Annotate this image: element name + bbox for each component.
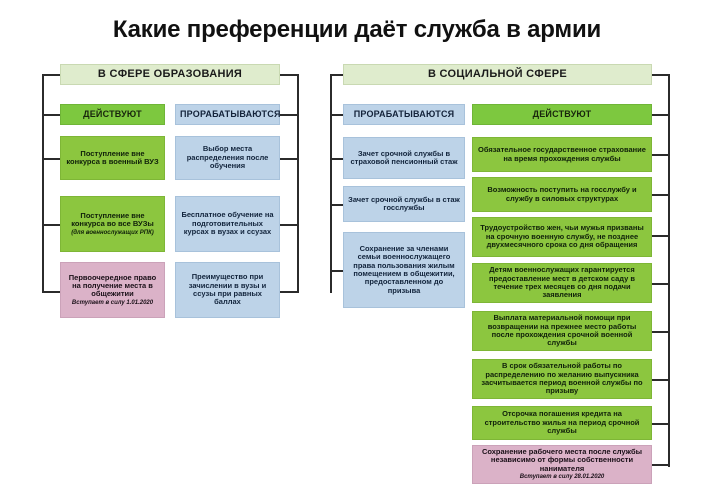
page-title: Какие преференции даёт служба в армии: [0, 16, 714, 44]
soc-right-bracket-vline: [668, 74, 670, 467]
edu-left-stub-item-2: [42, 224, 60, 226]
subheader-soc-active: ДЕЙСТВУЮТ: [472, 104, 652, 125]
item-soc-pending-3: Сохранение за членами семьи военнослужащ…: [343, 232, 465, 308]
soc-left-stub-item-2: [330, 204, 343, 206]
soc-right-stub-item-6: [652, 379, 669, 381]
item-edu-active-1: Поступление вне конкурса в военный ВУЗ: [60, 136, 165, 180]
item-edu-active-2: Поступление вне конкурса во все ВУЗы (дл…: [60, 196, 165, 252]
infographic-canvas: Какие преференции даёт служба в армии В …: [0, 0, 714, 504]
soc-right-stub-item-3: [652, 235, 669, 237]
section-header-social: В СОЦИАЛЬНОЙ СФЕРЕ: [343, 64, 652, 85]
item-soc-active-6: В срок обязательной работы по распределе…: [472, 359, 652, 399]
item-soc-active-2: Возможность поступить на госслужбу и слу…: [472, 177, 652, 212]
edu-left-bracket-vline: [42, 74, 44, 293]
soc-right-stub-header: [652, 74, 669, 76]
soc-right-stub-sub: [652, 114, 669, 116]
item-edu-active-3: Первоочередное право на получение места …: [60, 262, 165, 318]
soc-right-stub-item-5: [652, 331, 669, 333]
subheader-soc-pending: ПРОРАБАТЫВАЮТСЯ: [343, 104, 465, 125]
subheader-edu-active: ДЕЙСТВУЮТ: [60, 104, 165, 125]
soc-right-stub-item-2: [652, 194, 669, 196]
soc-left-stub-header: [330, 74, 343, 76]
edu-left-stub-item-3: [42, 291, 60, 293]
soc-left-stub-item-3: [330, 270, 343, 272]
item-edu-pending-2: Бесплатное обучение на подготовительных …: [175, 196, 280, 252]
item-soc-pending-1: Зачет срочной службы в страховой пенсион…: [343, 137, 465, 179]
soc-right-stub-item-8: [652, 464, 669, 466]
item-soc-active-4: Детям военнослужащих гарантируется предо…: [472, 263, 652, 303]
subheader-edu-pending: ПРОРАБАТЫВАЮТСЯ: [175, 104, 280, 125]
item-soc-active-5: Выплата материальной помощи при возвраще…: [472, 311, 652, 351]
soc-left-stub-item-1: [330, 158, 343, 160]
item-soc-active-8: Сохранение рабочего места после службы н…: [472, 445, 652, 484]
edu-right-stub-item-3: [280, 291, 298, 293]
item-edu-pending-1: Выбор места распределения после обучения: [175, 136, 280, 180]
edu-right-stub-sub: [280, 114, 298, 116]
soc-right-stub-item-1: [652, 154, 669, 156]
edu-right-bracket-vline: [297, 74, 299, 293]
soc-right-stub-item-7: [652, 423, 669, 425]
item-soc-active-3: Трудоустройство жен, чьи мужья призваны …: [472, 217, 652, 257]
item-soc-active-7: Отсрочка погашения кредита на строительс…: [472, 406, 652, 440]
item-soc-active-1: Обязательное государственное страхование…: [472, 137, 652, 172]
soc-left-bracket-vline: [330, 74, 332, 293]
edu-left-stub-item-1: [42, 158, 60, 160]
item-edu-pending-3: Преимущество при зачислении в вузы и ссу…: [175, 262, 280, 318]
edu-right-stub-item-2: [280, 224, 298, 226]
edu-left-stub-header: [42, 74, 60, 76]
edu-right-stub-item-1: [280, 158, 298, 160]
soc-right-stub-item-4: [652, 283, 669, 285]
edu-right-stub-header: [280, 74, 298, 76]
soc-left-stub-sub: [330, 114, 343, 116]
section-header-education: В СФЕРЕ ОБРАЗОВАНИЯ: [60, 64, 280, 85]
item-soc-pending-2: Зачет срочной службы в стаж госслужбы: [343, 186, 465, 222]
edu-left-stub-sub: [42, 114, 60, 116]
